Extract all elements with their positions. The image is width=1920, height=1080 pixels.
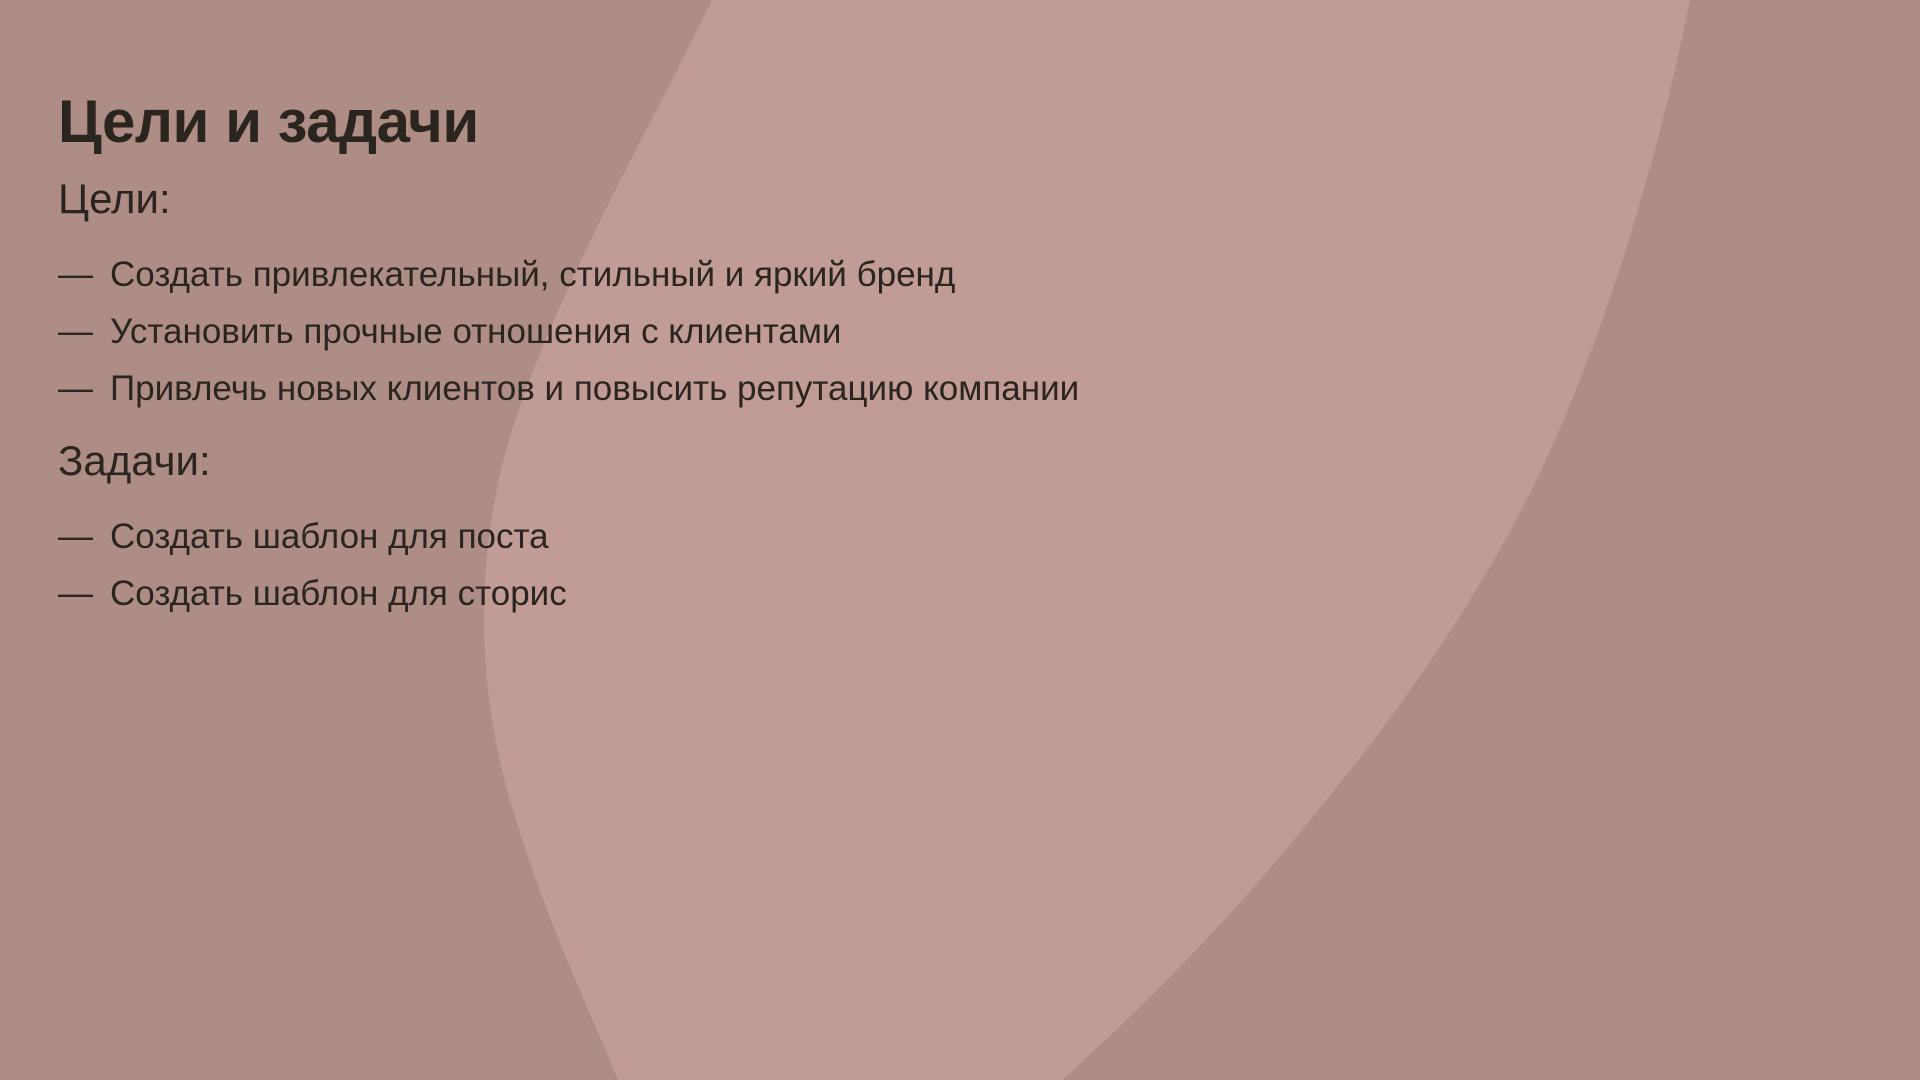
- list-item: — Установить прочные отношения с клиента…: [58, 303, 1079, 360]
- section-tasks-list: — Создать шаблон для поста — Создать шаб…: [58, 508, 567, 622]
- em-dash-icon: —: [58, 508, 110, 565]
- section-goals-list: — Создать привлекательный, стильный и яр…: [58, 246, 1079, 417]
- em-dash-icon: —: [58, 303, 110, 360]
- em-dash-icon: —: [58, 360, 110, 417]
- section-goals-heading: Цели:: [58, 178, 1079, 220]
- section-tasks: Задачи: — Создать шаблон для поста — Соз…: [58, 440, 567, 622]
- page-title: Цели и задачи: [58, 92, 479, 152]
- slide-content: Цели и задачи Цели: — Создать привлекате…: [0, 0, 1920, 1080]
- em-dash-icon: —: [58, 565, 110, 622]
- slide-canvas: Цели и задачи Цели: — Создать привлекате…: [0, 0, 1920, 1080]
- list-item-label: Создать шаблон для поста: [110, 508, 549, 565]
- section-goals: Цели: — Создать привлекательный, стильны…: [58, 178, 1079, 417]
- section-tasks-heading: Задачи:: [58, 440, 567, 482]
- list-item-label: Создать привлекательный, стильный и ярки…: [110, 246, 955, 303]
- list-item: — Создать шаблон для поста: [58, 508, 567, 565]
- list-item-label: Установить прочные отношения с клиентами: [110, 303, 841, 360]
- list-item: — Создать шаблон для сторис: [58, 565, 567, 622]
- list-item-label: Создать шаблон для сторис: [110, 565, 567, 622]
- list-item-label: Привлечь новых клиентов и повысить репут…: [110, 360, 1079, 417]
- list-item: — Привлечь новых клиентов и повысить реп…: [58, 360, 1079, 417]
- list-item: — Создать привлекательный, стильный и яр…: [58, 246, 1079, 303]
- em-dash-icon: —: [58, 246, 110, 303]
